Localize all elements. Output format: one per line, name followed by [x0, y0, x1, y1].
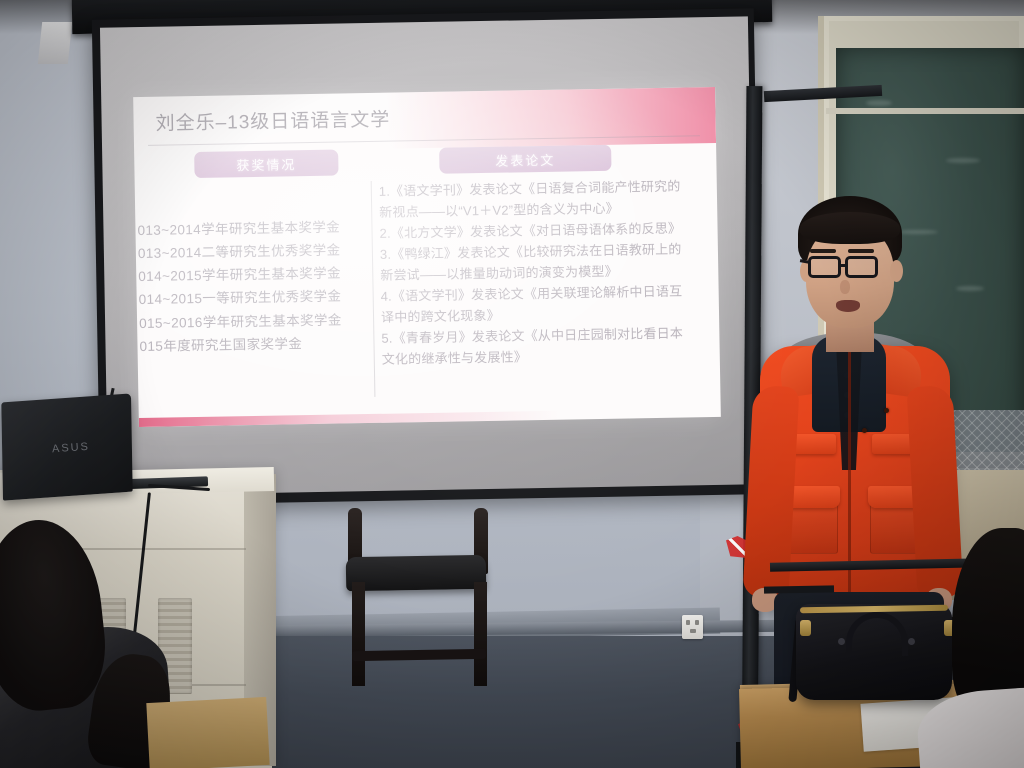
- screen-wall-bracket: [38, 22, 72, 64]
- jacket-snap: [862, 428, 867, 433]
- eyeglasses-lens-right: [845, 256, 878, 278]
- presenter-mouth: [836, 300, 860, 312]
- back-rail-bar-lower: [764, 585, 834, 593]
- presenter-fringe: [800, 212, 900, 244]
- chair-leg-left: [352, 582, 365, 686]
- classroom-photo: 刘全乐–13级日语语言文学 获奖情况 发表论文 013~2014学年研究生基本奖…: [0, 0, 1024, 768]
- presenter-eyebrow-right: [848, 249, 874, 253]
- power-outlet: [682, 615, 703, 639]
- chalkboard-top-frame: [826, 108, 1024, 114]
- list-item: 015~2016学年研究生基本奖学金: [139, 310, 369, 333]
- list-item: 015年度研究生国家奖学金: [139, 333, 369, 356]
- slide-column-divider: [371, 181, 376, 397]
- list-item: 014~2015一等研究生优秀奖学金: [139, 286, 369, 309]
- presenter-ear-right: [890, 260, 903, 282]
- list-item: 014~2015学年研究生基本奖学金: [138, 263, 368, 286]
- chair-seat: [346, 555, 487, 591]
- student-desk-left: [146, 697, 269, 768]
- awards-list: 013~2014学年研究生基本奖学金 013~2014二等研究生优秀奖学金 01…: [135, 217, 369, 356]
- list-item: 文化的继承性与发展性》: [382, 343, 712, 370]
- eyeglasses-bridge: [841, 264, 847, 267]
- presenter-eyebrow-left: [810, 249, 836, 253]
- handbag-stud-left: [838, 638, 845, 645]
- list-item: 013~2014二等研究生优秀奖学金: [138, 240, 368, 263]
- eyeglasses-lens-left: [808, 256, 841, 278]
- slide-header-awards: 获奖情况: [194, 150, 338, 179]
- papers-list: 1.《语文学刊》发表论文《日语复合词能产性研究的 新视点——以“V1＋V2”型的…: [379, 175, 712, 370]
- slide-header-papers: 发表论文: [439, 145, 611, 174]
- presentation-slide: 刘全乐–13级日语语言文学 获奖情况 发表论文 013~2014学年研究生基本奖…: [133, 87, 721, 427]
- chair-leg-right: [474, 582, 487, 686]
- presenter-nose: [840, 280, 850, 294]
- slide-title: 刘全乐–13级日语语言文学: [155, 105, 390, 136]
- jacket-snap: [884, 408, 889, 413]
- list-item: 013~2014学年研究生基本奖学金: [137, 217, 367, 240]
- handbag-clasp-left: [800, 620, 811, 636]
- handbag-stud-right: [908, 638, 915, 645]
